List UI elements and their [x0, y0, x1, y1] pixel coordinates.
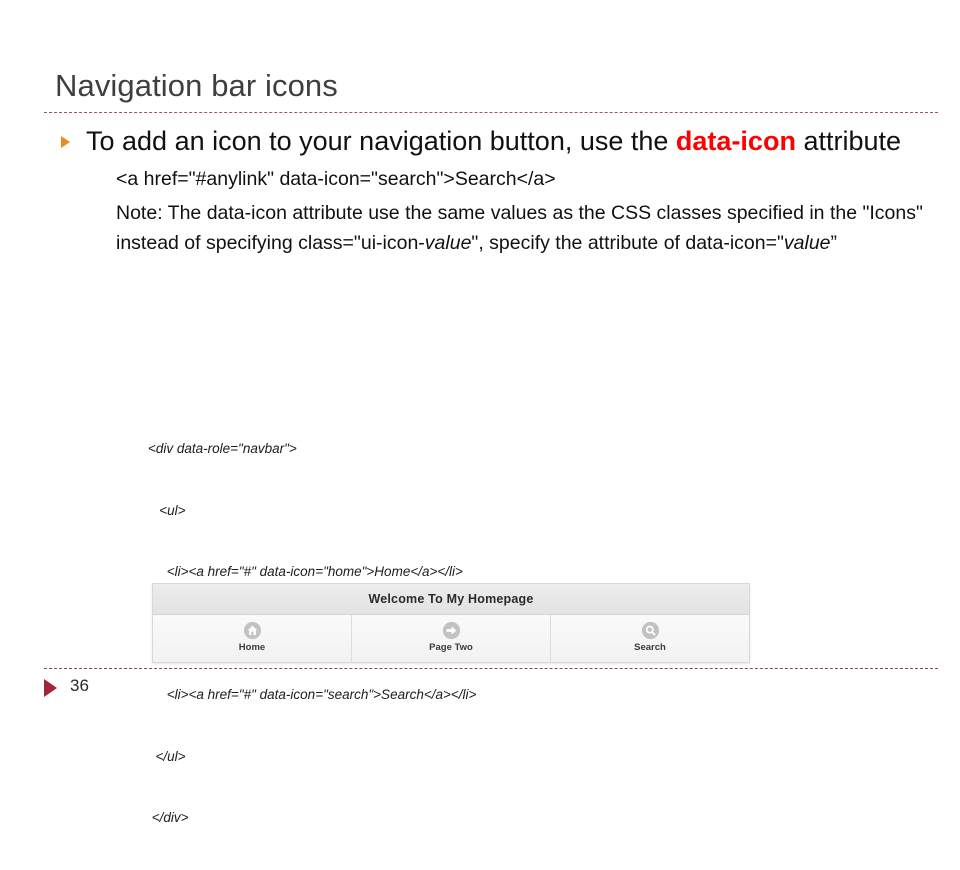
code-line: </ul>	[148, 747, 496, 768]
code-line: <ul>	[148, 501, 496, 522]
bullet-item: To add an icon to your navigation button…	[44, 124, 938, 158]
instead-part1: instead of specifying class="ui-icon-	[116, 232, 425, 254]
navbar-item-page-two[interactable]: Page Two	[352, 615, 551, 662]
navbar-mockup: Welcome To My Homepage Home	[152, 583, 750, 663]
navbar-item-label: Home	[153, 642, 351, 653]
bullet-triangle-icon	[61, 136, 70, 148]
navbar-item-search[interactable]: Search	[551, 615, 749, 662]
bullet-text-after: attribute	[796, 126, 901, 156]
slide: Navigation bar icons To add an icon to y…	[0, 0, 960, 720]
code-line: </div>	[148, 808, 496, 829]
slide-body: To add an icon to your navigation button…	[44, 124, 938, 256]
code-line: <li><a href="#" data-icon="search">Searc…	[148, 685, 496, 706]
note-line: Note: The data-icon attribute use the sa…	[116, 200, 938, 226]
instead-line: instead of specifying class="ui-icon-val…	[116, 230, 938, 256]
home-icon	[244, 622, 261, 639]
footer-divider	[44, 668, 938, 669]
navbar-item-home[interactable]: Home	[153, 615, 352, 662]
bullet-highlight: data-icon	[676, 126, 796, 156]
bullet-text: To add an icon to your navigation button…	[86, 124, 938, 158]
navbar-items: Home Page Two	[153, 615, 749, 662]
navbar-item-label: Search	[551, 642, 749, 653]
footer-triangle-icon	[44, 679, 57, 697]
instead-part2: ", specify the attribute of data-icon="	[471, 232, 783, 254]
bullet-text-before: To add an icon to your navigation button…	[86, 126, 676, 156]
page-title: Navigation bar icons	[55, 68, 338, 104]
title-divider	[44, 112, 938, 113]
code-line: <li><a href="#" data-icon="home">Home</a…	[148, 562, 496, 583]
code-line: <div data-role="navbar">	[148, 439, 496, 460]
instead-italic2: value	[784, 232, 831, 254]
arrow-right-icon	[443, 622, 460, 639]
navbar-header-title: Welcome To My Homepage	[153, 584, 749, 615]
instead-part3: ”	[831, 232, 838, 254]
page-number: 36	[70, 676, 89, 696]
search-icon	[642, 622, 659, 639]
code-sample-line: <a href="#anylink" data-icon="search">Se…	[116, 166, 938, 192]
instead-italic1: value	[425, 232, 472, 254]
navbar-item-label: Page Two	[352, 642, 550, 653]
